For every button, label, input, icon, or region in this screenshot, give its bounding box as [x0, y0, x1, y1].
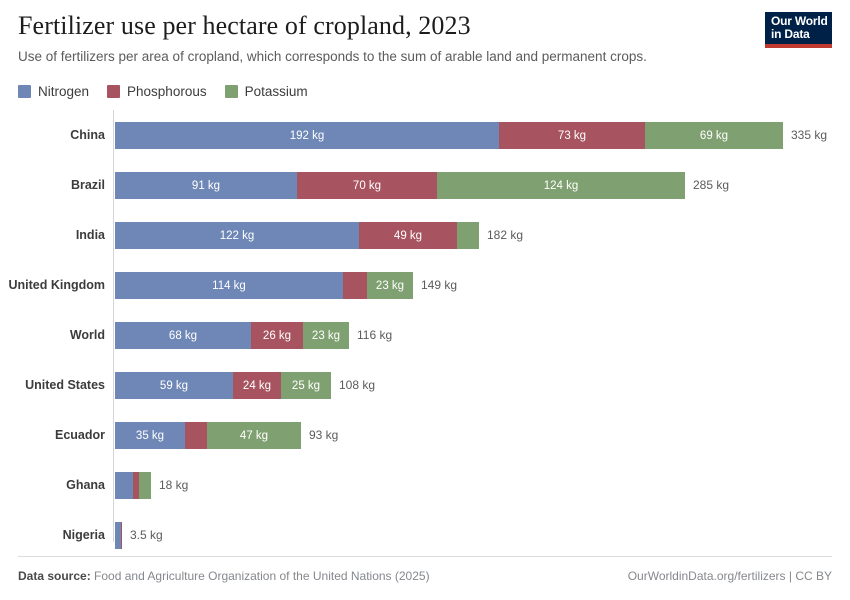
- stacked-bar[interactable]: 68 kg26 kg23 kg: [115, 322, 349, 349]
- bar-row-label: United Kingdom: [0, 260, 105, 310]
- legend-item-nitrogen[interactable]: Nitrogen: [18, 84, 89, 99]
- bar-segment-potassium[interactable]: [139, 472, 151, 499]
- chart-legend: NitrogenPhosphorousPotassium: [18, 84, 308, 99]
- bar-segment-potassium[interactable]: 124 kg: [437, 172, 685, 199]
- attribution-link[interactable]: OurWorldinData.org/fertilizers | CC BY: [628, 569, 832, 583]
- owid-logo-line2: in Data: [771, 28, 810, 41]
- bar-segment-phosphorous[interactable]: [343, 272, 367, 299]
- bar-segment-potassium[interactable]: 69 kg: [645, 122, 783, 149]
- bar-row[interactable]: Ecuador35 kg47 kg93 kg: [0, 410, 850, 460]
- legend-item-label: Potassium: [245, 84, 308, 99]
- stacked-bar[interactable]: 35 kg47 kg: [115, 422, 301, 449]
- chart-footer: Data source: Food and Agriculture Organi…: [18, 566, 832, 586]
- bar-segment-nitrogen[interactable]: 192 kg: [115, 122, 499, 149]
- bar-segment-phosphorous[interactable]: 70 kg: [297, 172, 437, 199]
- bar-total-label: 182 kg: [487, 222, 523, 249]
- bar-segment-label: 124 kg: [544, 180, 579, 192]
- chart-plot-area: China192 kg73 kg69 kg335 kgBrazil91 kg70…: [0, 110, 850, 542]
- bar-total-label: 116 kg: [357, 322, 392, 349]
- bar-row[interactable]: United Kingdom114 kg23 kg149 kg: [0, 260, 850, 310]
- chart-subtitle: Use of fertilizers per area of cropland,…: [18, 48, 832, 66]
- bar-segment-phosphorous[interactable]: 26 kg: [251, 322, 303, 349]
- bar-row-label: Ecuador: [0, 410, 105, 460]
- legend-swatch-icon: [18, 85, 31, 98]
- bar-row[interactable]: United States59 kg24 kg25 kg108 kg: [0, 360, 850, 410]
- stacked-bar[interactable]: 114 kg23 kg: [115, 272, 413, 299]
- stacked-bar[interactable]: 59 kg24 kg25 kg: [115, 372, 331, 399]
- bar-row[interactable]: Nigeria3.5 kg: [0, 510, 850, 560]
- legend-item-phosphorous[interactable]: Phosphorous: [107, 84, 207, 99]
- bar-row[interactable]: Brazil91 kg70 kg124 kg285 kg: [0, 160, 850, 210]
- bar-segment-label: 192 kg: [290, 130, 325, 142]
- bar-row-label: China: [0, 110, 105, 160]
- legend-item-potassium[interactable]: Potassium: [225, 84, 308, 99]
- bar-row-label: Nigeria: [0, 510, 105, 560]
- bar-segment-nitrogen[interactable]: [115, 472, 133, 499]
- bar-segment-label: 23 kg: [312, 330, 340, 342]
- bar-row[interactable]: Ghana18 kg: [0, 460, 850, 510]
- bar-segment-nitrogen[interactable]: 122 kg: [115, 222, 359, 249]
- bar-total-label: 18 kg: [159, 472, 188, 499]
- bar-row-label: Ghana: [0, 460, 105, 510]
- bar-segment-label: 91 kg: [192, 180, 220, 192]
- bar-row-label: India: [0, 210, 105, 260]
- bar-segment-potassium[interactable]: [457, 222, 479, 249]
- bar-segment-phosphorous[interactable]: [185, 422, 207, 449]
- stacked-bar[interactable]: 91 kg70 kg124 kg: [115, 172, 685, 199]
- data-source-prefix: Data source:: [18, 569, 91, 583]
- stacked-bar[interactable]: [115, 522, 122, 549]
- footer-divider: [18, 556, 832, 557]
- bar-segment-potassium[interactable]: 23 kg: [303, 322, 349, 349]
- bar-segment-label: 23 kg: [376, 280, 404, 292]
- bar-segment-label: 73 kg: [558, 130, 586, 142]
- legend-item-label: Phosphorous: [127, 84, 207, 99]
- bar-segment-phosphorous[interactable]: [121, 522, 122, 549]
- legend-swatch-icon: [107, 85, 120, 98]
- chart-header: Fertilizer use per hectare of cropland, …: [18, 10, 832, 66]
- bar-total-label: 93 kg: [309, 422, 338, 449]
- bar-total-label: 285 kg: [693, 172, 729, 199]
- bar-row-label: United States: [0, 360, 105, 410]
- bar-row[interactable]: India122 kg49 kg182 kg: [0, 210, 850, 260]
- bar-segment-phosphorous[interactable]: 49 kg: [359, 222, 457, 249]
- bar-segment-label: 49 kg: [394, 230, 422, 242]
- legend-item-label: Nitrogen: [38, 84, 89, 99]
- bar-segment-label: 26 kg: [263, 330, 291, 342]
- bar-segment-nitrogen[interactable]: 35 kg: [115, 422, 185, 449]
- data-source: Data source: Food and Agriculture Organi…: [18, 569, 430, 583]
- bar-segment-label: 68 kg: [169, 330, 197, 342]
- data-source-text: Food and Agriculture Organization of the…: [94, 569, 430, 583]
- bar-row[interactable]: China192 kg73 kg69 kg335 kg: [0, 110, 850, 160]
- bar-segment-potassium[interactable]: 47 kg: [207, 422, 301, 449]
- bar-segment-label: 114 kg: [212, 280, 246, 292]
- bar-segment-potassium[interactable]: 23 kg: [367, 272, 413, 299]
- bar-row[interactable]: World68 kg26 kg23 kg116 kg: [0, 310, 850, 360]
- bar-row-label: World: [0, 310, 105, 360]
- page-title: Fertilizer use per hectare of cropland, …: [18, 10, 832, 42]
- bar-total-label: 3.5 kg: [130, 522, 163, 549]
- bar-segment-label: 122 kg: [220, 230, 255, 242]
- legend-swatch-icon: [225, 85, 238, 98]
- stacked-bar[interactable]: [115, 472, 151, 499]
- bar-segment-nitrogen[interactable]: 91 kg: [115, 172, 297, 199]
- stacked-bar[interactable]: 192 kg73 kg69 kg: [115, 122, 783, 149]
- bar-segment-nitrogen[interactable]: 59 kg: [115, 372, 233, 399]
- bar-segment-phosphorous[interactable]: 24 kg: [233, 372, 281, 399]
- bar-segment-label: 59 kg: [160, 380, 188, 392]
- stacked-bar[interactable]: 122 kg49 kg: [115, 222, 479, 249]
- bar-segment-label: 47 kg: [240, 430, 268, 442]
- bar-row-label: Brazil: [0, 160, 105, 210]
- bar-segment-potassium[interactable]: 25 kg: [281, 372, 331, 399]
- bar-total-label: 335 kg: [791, 122, 827, 149]
- bar-total-label: 149 kg: [421, 272, 457, 299]
- bar-segment-nitrogen[interactable]: 114 kg: [115, 272, 343, 299]
- bar-segment-label: 24 kg: [243, 380, 271, 392]
- bar-segment-label: 25 kg: [292, 380, 320, 392]
- bar-segment-label: 35 kg: [136, 430, 164, 442]
- owid-logo[interactable]: Our World in Data: [765, 12, 832, 48]
- bar-segment-phosphorous[interactable]: 73 kg: [499, 122, 645, 149]
- bar-segment-label: 69 kg: [700, 130, 728, 142]
- bar-total-label: 108 kg: [339, 372, 375, 399]
- bar-segment-nitrogen[interactable]: 68 kg: [115, 322, 251, 349]
- bar-segment-label: 70 kg: [353, 180, 381, 192]
